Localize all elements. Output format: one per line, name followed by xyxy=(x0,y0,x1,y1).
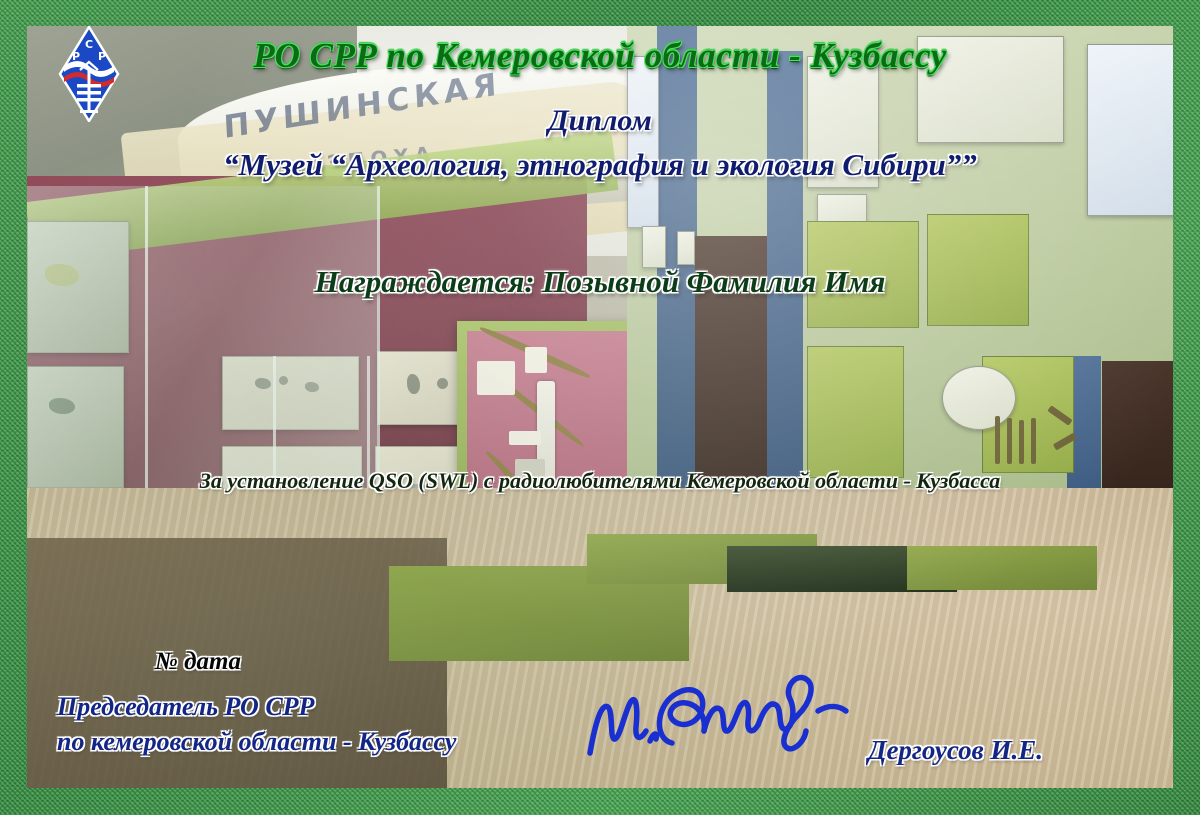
exhibit-label xyxy=(477,361,515,395)
chairman-title-line2: по кемеровской области - Кузбассу xyxy=(57,727,456,757)
spear-artifact xyxy=(1019,420,1024,464)
circular-chart xyxy=(942,366,1016,430)
spear-artifact xyxy=(995,416,1000,464)
spear-artifact xyxy=(1007,418,1012,464)
wall-map xyxy=(627,56,659,228)
spear-artifact xyxy=(1031,418,1036,464)
chairman-title-line1: Председатель РО СРР xyxy=(57,692,314,722)
award-name: “Музей “Археология, этнография и экологи… xyxy=(0,147,1200,183)
recipient-line: Награждается: Позывной Фамилия Имя xyxy=(0,264,1200,300)
signer-name: Дергоусов И.Е. xyxy=(868,735,1043,766)
exhibit-label xyxy=(525,347,547,373)
green-display-case xyxy=(807,346,904,478)
artifact xyxy=(407,374,420,394)
case-plinth xyxy=(907,546,1097,590)
wall-placard xyxy=(642,226,666,268)
artifact xyxy=(437,378,448,389)
wall-placard xyxy=(677,231,695,265)
award-certificate: ПУШИНСКАЯ ЭПОХА xyxy=(0,0,1200,815)
document-type-label: Диплом xyxy=(0,104,1200,138)
exhibit-label xyxy=(509,431,541,445)
number-date-field: № дата xyxy=(155,648,241,676)
handwritten-signature xyxy=(580,645,880,765)
award-reason-line: За установление QSO (SWL) с радиолюбител… xyxy=(0,468,1200,494)
page-title: РО СРР по Кемеровской области - Кузбассу xyxy=(0,36,1200,76)
